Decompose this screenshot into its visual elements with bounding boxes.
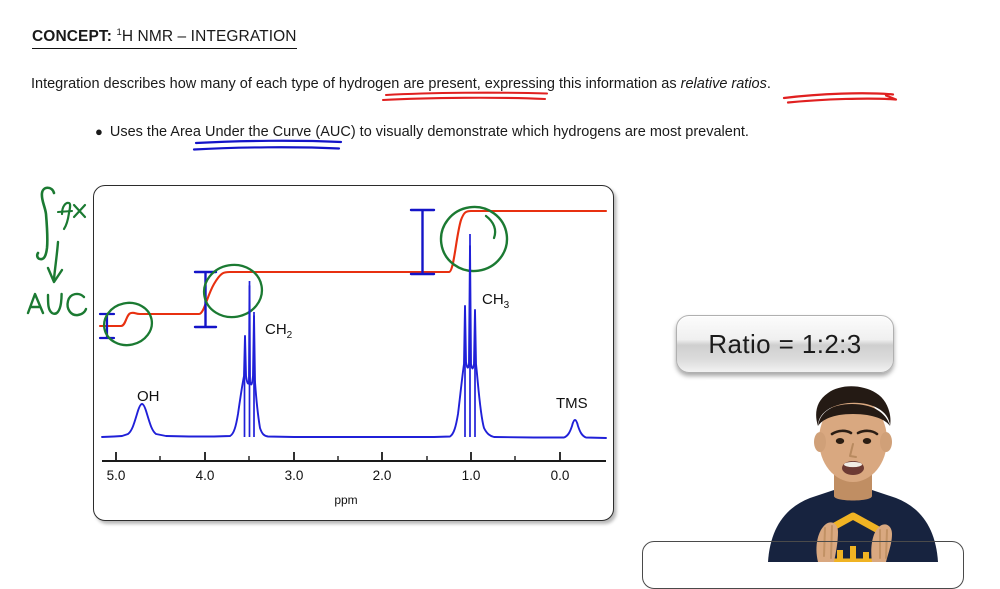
x-tick-0-0: 0.0 <box>551 468 570 483</box>
integration-trace <box>100 211 606 326</box>
x-tick-2-0: 2.0 <box>373 468 392 483</box>
peak-label-ch2: CH2 <box>265 321 293 341</box>
bullet-dot-icon: ● <box>95 124 103 139</box>
nmr-spectrum-panel: CH2 CH3 OH TMS <box>93 185 614 521</box>
presenter-video[interactable] <box>706 380 1000 562</box>
step-bracket-3 <box>411 210 434 274</box>
green-handwriting-group <box>28 188 86 315</box>
x-axis: 5.0 4.0 3.0 2.0 1.0 0.0 ppm <box>102 452 606 507</box>
blue-underline-auc <box>194 141 341 150</box>
bullet-text: Uses the Area Under the Curve (AUC) to v… <box>110 124 749 140</box>
ratio-badge-text: Ratio = 1:2:3 <box>708 329 861 360</box>
ratio-badge: Ratio = 1:2:3 <box>676 315 894 373</box>
paragraph-emphasis: relative ratios <box>681 76 767 92</box>
concept-label: CONCEPT: <box>32 28 112 45</box>
paragraph-part-2: . <box>767 76 771 92</box>
peak-label-tms: TMS <box>556 395 588 412</box>
page-title-underlined: CONCEPT: 1H NMR – INTEGRATION <box>32 27 297 49</box>
x-axis-title: ppm <box>334 493 357 507</box>
peak-label-ch3: CH3 <box>482 291 510 311</box>
heading-rest: H NMR – INTEGRATION <box>122 28 297 45</box>
presenter-figure <box>706 380 1000 562</box>
paragraph-part-1: Integration describes how many of each t… <box>31 76 681 92</box>
intro-paragraph: Integration describes how many of each t… <box>31 76 771 92</box>
red-underline-hydrogen-present <box>383 93 547 100</box>
spectrum-trace <box>102 246 606 438</box>
x-tick-5-0: 5.0 <box>107 468 126 483</box>
lower-rounded-panel <box>642 541 964 589</box>
x-tick-3-0: 3.0 <box>285 468 304 483</box>
green-circle-ch3-riser <box>437 203 511 276</box>
slide-root: CONCEPT: 1H NMR – INTEGRATION Integratio… <box>0 0 1000 562</box>
x-tick-4-0: 4.0 <box>196 468 215 483</box>
x-tick-1-0: 1.0 <box>462 468 481 483</box>
red-underline-relative-ratios <box>784 93 896 102</box>
peak-label-oh: OH <box>137 388 160 405</box>
bullet-item-auc: ●Uses the Area Under the Curve (AUC) to … <box>95 124 749 140</box>
page-title: CONCEPT: 1H NMR – INTEGRATION <box>32 27 297 49</box>
green-circle-oh-riser <box>100 298 156 349</box>
nmr-spectrum-chart: CH2 CH3 OH TMS <box>94 186 613 520</box>
